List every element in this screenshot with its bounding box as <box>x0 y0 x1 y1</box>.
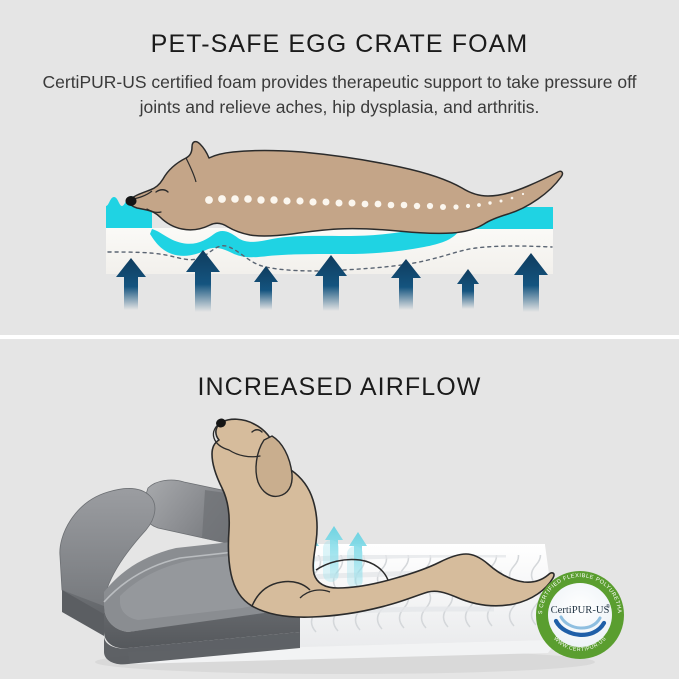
certipur-us-badge: CertiPUR-US ® CONTAINS CERTIFIED FLEXIBL… <box>536 571 624 659</box>
panel2-illustration: CertiPUR-US ® CONTAINS CERTIFIED FLEXIBL… <box>0 340 679 679</box>
dog-ear <box>256 436 292 496</box>
panel1-illustration <box>0 0 679 337</box>
panel-increased-airflow: INCREASED AIRFLOW <box>0 340 679 679</box>
support-arrow-6 <box>457 269 479 309</box>
sitting-dog-side-view <box>212 417 554 617</box>
panel-egg-crate-foam: PET-SAFE EGG CRATE FOAM CertiPUR-US cert… <box>0 0 679 337</box>
product-infographic: PET-SAFE EGG CRATE FOAM CertiPUR-US cert… <box>0 0 679 679</box>
panel-divider <box>0 335 679 339</box>
dog-nose <box>126 196 137 206</box>
badge-center-text: CertiPUR-US <box>551 605 610 616</box>
badge-trademark: ® <box>606 603 610 610</box>
